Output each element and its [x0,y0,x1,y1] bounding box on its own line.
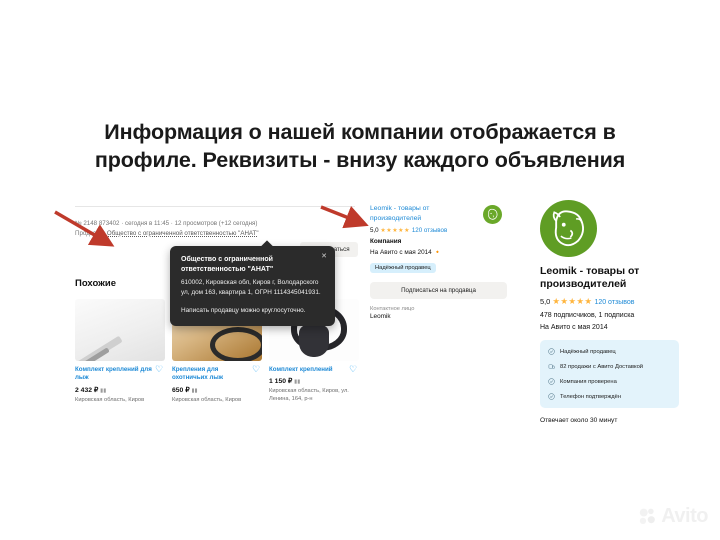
product-image-shape [210,327,262,361]
product-image[interactable] [75,299,165,361]
price-history-icon: ▮▮ [294,379,300,385]
badge-item: Телефон подтверждён [540,389,679,404]
badge-label: Компания проверена [560,379,617,385]
seller-sidebar: Leomik - товары от производителей 5,0 ★★… [370,204,510,320]
product-location: Кировская область, Киров [75,397,165,405]
product-title[interactable]: Комплект креплений [269,366,359,374]
close-icon[interactable]: ✕ [321,252,327,260]
heart-icon[interactable]: ♡ [252,365,260,373]
followers-count: 478 подписчиков, 1 подписка [540,312,680,319]
red-arrow-to-seller-link [52,208,124,252]
seller-type: Компания [370,238,510,245]
seller-legal-name-link[interactable]: Общество с ограниченной ответственностью… [107,230,259,237]
product-title[interactable]: Крепления для охотничьих лыж [172,366,262,383]
product-title[interactable]: Комплект креплений для лыж [75,366,165,383]
answer-time-label: Отвечает около 30 минут [540,417,680,424]
profile-since: На Авито с мая 2014 [540,324,680,331]
badge-item: Надёжный продавец [540,344,679,359]
contact-person-name: Leomik [370,313,510,320]
product-price-value: 2 432 ₽ [75,387,98,394]
badge-label: 82 продажи с Авито Доставкой [560,364,643,370]
product-location: Кировская область, Киров [172,397,262,405]
tooltip-pointer [261,240,272,251]
seller-since-label: На Авито с мая 2014 [370,249,432,256]
red-arrow-to-seller-name [318,204,378,234]
price-history-icon: ▮▮ [100,388,106,394]
badge-label: Надёжный продавец [560,349,616,355]
profile-rating-row: 5,0 ★★★★★ 120 отзывов [540,296,680,307]
seller-profile-card: Leomik - товары от производителей 5,0 ★★… [540,200,680,424]
avito-watermark-text: Avito [661,505,708,528]
product-price: 2 432 ₽ ▮▮ [75,386,165,394]
seller-since: На Авито с мая 2014 🔸 [370,248,510,256]
seller-legal-info-tooltip: ✕ Общество с ограниченной ответственност… [170,246,335,326]
avito-logo-icon [639,507,658,526]
heart-icon[interactable]: ♡ [349,365,357,373]
star-rating-icon: ★★★★★ [380,227,410,234]
seller-name-link[interactable]: Leomik - товары от производителей [370,204,442,224]
product-price-value: 650 ₽ [172,387,190,394]
contact-person-label: Контактное лицо [370,306,510,312]
check-circle-icon [548,378,555,385]
rating-value: 5,0 [540,297,550,306]
tooltip-note: Написать продавцу можно круглосуточно. [181,306,324,316]
seller-rating-row: 5,0 ★★★★★ 120 отзывов [370,227,510,234]
page-title-line-2: профиле. Реквизиты - внизу каждого объяв… [0,146,720,174]
similar-section-heading: Похожие [75,278,116,289]
list-item[interactable]: ♡ Комплект креплений для лыж 2 432 ₽ ▮▮ … [75,299,165,404]
page-title-line-1: Информация о нашей компании отображается… [0,118,720,146]
profile-title: Leomik - товары от производителей [540,265,670,291]
embedded-screenshot: № 2148 873402 · сегодня в 11:45 · 12 про… [0,190,720,430]
profile-badges-list: Надёжный продавец 82 продажи с Авито Дос… [540,340,679,408]
tooltip-title: Общество с ограниченной ответственностью… [181,255,324,275]
price-history-icon: ▮▮ [191,388,197,394]
lion-head-logo-icon [540,200,597,257]
page-title: Информация о нашей компании отображается… [0,118,720,175]
avatar[interactable] [540,200,597,257]
check-circle-icon [548,348,555,355]
avito-watermark: Avito [639,505,708,528]
avatar[interactable] [483,205,502,224]
heart-icon[interactable]: ♡ [155,365,163,373]
delivery-box-icon [548,363,555,370]
subscribe-button[interactable]: Подписаться на продавца [370,282,507,299]
product-price-value: 1 150 ₽ [269,378,292,385]
reviews-count-link[interactable]: 120 отзывов [412,227,447,234]
badge-label: Телефон подтверждён [560,394,621,400]
tooltip-address: 610002, Кировская обл, Киров г, Володарс… [181,278,324,297]
reviews-count-link[interactable]: 120 отзывов [594,299,634,306]
product-price: 1 150 ₽ ▮▮ [269,377,359,385]
divider [75,206,355,207]
badge-item: 82 продажи с Авито Доставкой [540,359,679,374]
product-location: Кировская область, Киров, ул. Ленина, 16… [269,388,359,403]
star-rating-icon: ★★★★★ [552,296,592,306]
badge-item: Компания проверена [540,374,679,389]
product-image-shape [299,325,329,357]
lion-head-logo-icon [483,205,502,224]
product-price: 650 ₽ ▮▮ [172,386,262,394]
check-circle-icon [548,393,555,400]
status-badge: Надёжный продавец [370,263,436,273]
achievement-icon: 🔸 [434,249,442,256]
